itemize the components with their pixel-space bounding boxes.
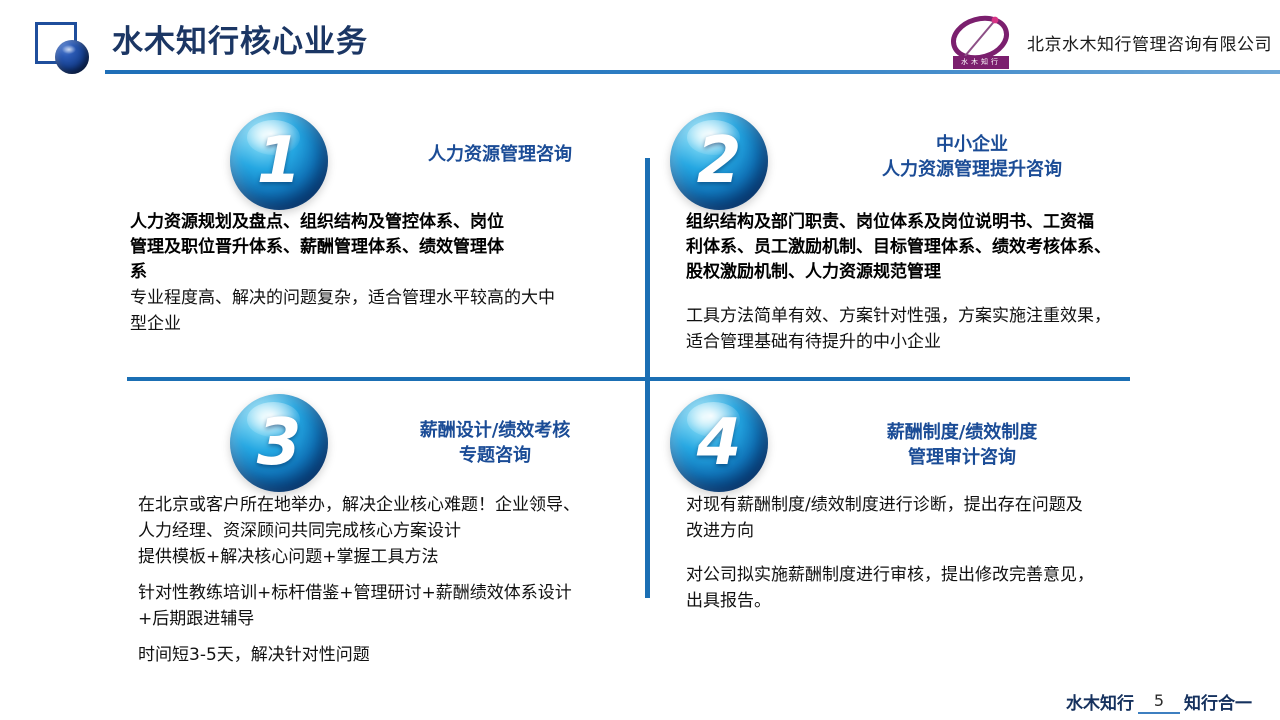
slide-footer: 水木知行 5 知行合一 (1066, 689, 1252, 714)
quadrant-1-bold-text: 人力资源规划及盘点、组织结构及管控体系、岗位 管理及职位晋升体系、薪酬管理体系、… (130, 210, 635, 285)
spacer (686, 544, 1162, 562)
spacer (138, 570, 635, 580)
spacer (138, 632, 635, 642)
blue-sphere-number-icon: 2 (670, 112, 768, 210)
quadrant-3-plain-text-2: 针对性教练培训+标杆借鉴+管理研讨+薪酬绩效体系设计 +后期跟进辅导 (138, 580, 635, 632)
quadrant-3-extra-text: 时间短3-5天，解决针对性问题 (138, 642, 635, 668)
header-divider (105, 70, 1280, 74)
quadrant-4-plain-text: 对现有薪酬制度/绩效制度进行诊断，提出存在问题及 改进方向 (686, 492, 1162, 544)
page-number: 5 (1138, 691, 1180, 714)
quadrant-3-title: 薪酬设计/绩效考核 专题咨询 (350, 418, 640, 468)
slide-root: 水木知行核心业务 水木知行 北京水木知行管理咨询有限公司 1 人力资源管理咨询 (0, 0, 1280, 720)
quadrant-1: 1 人力资源管理咨询 人力资源规划及盘点、组织结构及管控体系、岗位 管理及职位晋… (130, 110, 635, 337)
quadrant-3-number: 3 (230, 394, 328, 492)
quadrant-2-bold-text: 组织结构及部门职责、岗位体系及岗位说明书、工资福 利体系、员工激励机制、目标管理… (686, 210, 1162, 285)
company-name: 北京水木知行管理咨询有限公司 (1027, 30, 1272, 55)
quadrant-1-head: 1 人力资源管理咨询 (130, 110, 635, 210)
corporate-branding: 水木知行 北京水木知行管理咨询有限公司 (943, 14, 1272, 70)
spacer (686, 285, 1162, 303)
quadrant-4-body: 对现有薪酬制度/绩效制度进行诊断，提出存在问题及 改进方向 对公司拟实施薪酬制度… (686, 492, 1162, 614)
quadrant-4-head: 4 薪酬制度/绩效制度 管理审计咨询 (662, 392, 1162, 492)
footer-right-text: 知行合一 (1184, 689, 1252, 714)
quadrant-3: 3 薪酬设计/绩效考核 专题咨询 在北京或客户所在地举办，解决企业核心难题！企业… (130, 392, 635, 668)
page-title: 水木知行核心业务 (112, 22, 368, 62)
quadrant-3-plain-text: 在北京或客户所在地举办，解决企业核心难题！企业领导、 人力经理、资深顾问共同完成… (138, 492, 635, 570)
logo-sphere-shape (55, 40, 89, 74)
quadrant-2-body: 组织结构及部门职责、岗位体系及岗位说明书、工资福 利体系、员工激励机制、目标管理… (686, 210, 1162, 355)
blue-sphere-number-icon: 4 (670, 394, 768, 492)
quadrant-1-number: 1 (230, 112, 328, 210)
footer-left-text: 水木知行 (1066, 689, 1134, 714)
blue-sphere-number-icon: 3 (230, 394, 328, 492)
quadrant-3-head: 3 薪酬设计/绩效考核 专题咨询 (130, 392, 635, 492)
quadrant-4: 4 薪酬制度/绩效制度 管理审计咨询 对现有薪酬制度/绩效制度进行诊断，提出存在… (662, 392, 1162, 614)
quadrant-2-plain-text: 工具方法简单有效、方案针对性强，方案实施注重效果， 适合管理基础有待提升的中小企… (686, 303, 1162, 355)
quadrant-4-plain-text-2: 对公司拟实施薪酬制度进行审核，提出修改完善意见， 出具报告。 (686, 562, 1162, 614)
horizontal-divider (127, 377, 1130, 381)
quadrant-3-body: 在北京或客户所在地举办，解决企业核心难题！企业领导、 人力经理、资深顾问共同完成… (138, 492, 635, 668)
quadrant-4-number: 4 (670, 394, 768, 492)
square-sphere-logo-icon (35, 22, 91, 72)
quadrant-2: 2 中小企业 人力资源管理提升咨询 组织结构及部门职责、岗位体系及岗位说明书、工… (662, 110, 1162, 355)
quadrant-1-plain-text: 专业程度高、解决的问题复杂，适合管理水平较高的大中 型企业 (130, 285, 635, 337)
logo-banner-text: 水木知行 (953, 56, 1009, 69)
quadrant-2-title: 中小企业 人力资源管理提升咨询 (822, 132, 1122, 182)
slide-header: 水木知行核心业务 水木知行 北京水木知行管理咨询有限公司 (0, 0, 1280, 80)
shuimu-zhixing-swoosh-logo-icon: 水木知行 (943, 14, 1017, 70)
blue-sphere-number-icon: 1 (230, 112, 328, 210)
quadrant-4-title: 薪酬制度/绩效制度 管理审计咨询 (812, 420, 1112, 470)
quadrant-2-head: 2 中小企业 人力资源管理提升咨询 (662, 110, 1162, 210)
quadrant-1-title: 人力资源管理咨询 (370, 142, 630, 167)
quadrant-1-body: 人力资源规划及盘点、组织结构及管控体系、岗位 管理及职位晋升体系、薪酬管理体系、… (130, 210, 635, 337)
quadrant-2-number: 2 (670, 112, 768, 210)
